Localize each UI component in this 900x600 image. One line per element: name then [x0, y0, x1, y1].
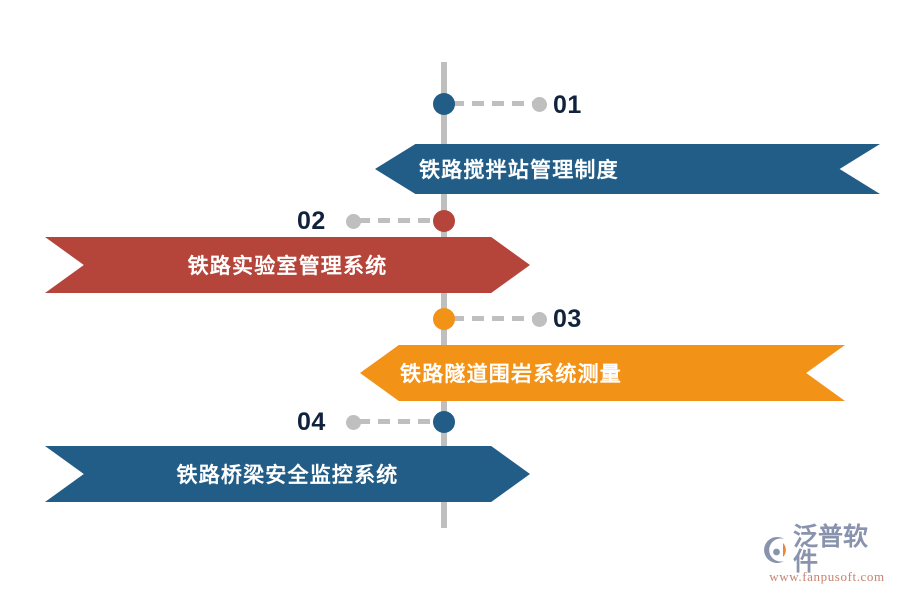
timeline-node-2: [433, 210, 455, 232]
connector-dash-1: [452, 101, 538, 106]
banner-item-2[interactable]: 铁路实验室管理系统: [45, 237, 530, 293]
item-number-3: 03: [553, 305, 582, 334]
item-number-2: 02: [297, 207, 326, 236]
banner-label-1: 铁路搅拌站管理制度: [419, 154, 619, 184]
fanpu-logo-icon: [762, 535, 792, 565]
watermark-url: www.fanpusoft.com: [762, 569, 892, 585]
timeline-node-1: [433, 93, 455, 115]
banner-item-4[interactable]: 铁路桥梁安全监控系统: [45, 446, 530, 502]
connector-dash-3: [452, 316, 538, 321]
infographic-canvas: 01 铁路搅拌站管理制度 02 铁路实验室管理系统 03 铁路隧道围岩系统测量 …: [0, 0, 900, 600]
timeline-node-3: [433, 308, 455, 330]
banner-label-2: 铁路实验室管理系统: [188, 250, 388, 280]
connector-endpoint-dot-1: [532, 97, 547, 112]
connector-endpoint-dot-3: [532, 312, 547, 327]
connector-endpoint-dot-4: [346, 415, 361, 430]
watermark-brand: 泛普软件: [793, 525, 892, 575]
watermark-logo-row: 泛普软件: [762, 533, 892, 567]
connector-endpoint-dot-2: [346, 214, 361, 229]
watermark-logo: 泛普软件 www.fanpusoft.com: [762, 533, 892, 589]
timeline-node-4: [433, 411, 455, 433]
banner-item-3[interactable]: 铁路隧道围岩系统测量: [360, 345, 845, 401]
item-number-4: 04: [297, 408, 326, 437]
connector-dash-4: [358, 419, 444, 424]
item-number-1: 01: [553, 91, 582, 120]
connector-dash-2: [358, 218, 444, 223]
banner-label-4: 铁路桥梁安全监控系统: [177, 459, 399, 489]
banner-item-1[interactable]: 铁路搅拌站管理制度: [375, 144, 880, 194]
banner-label-3: 铁路隧道围岩系统测量: [400, 358, 622, 388]
